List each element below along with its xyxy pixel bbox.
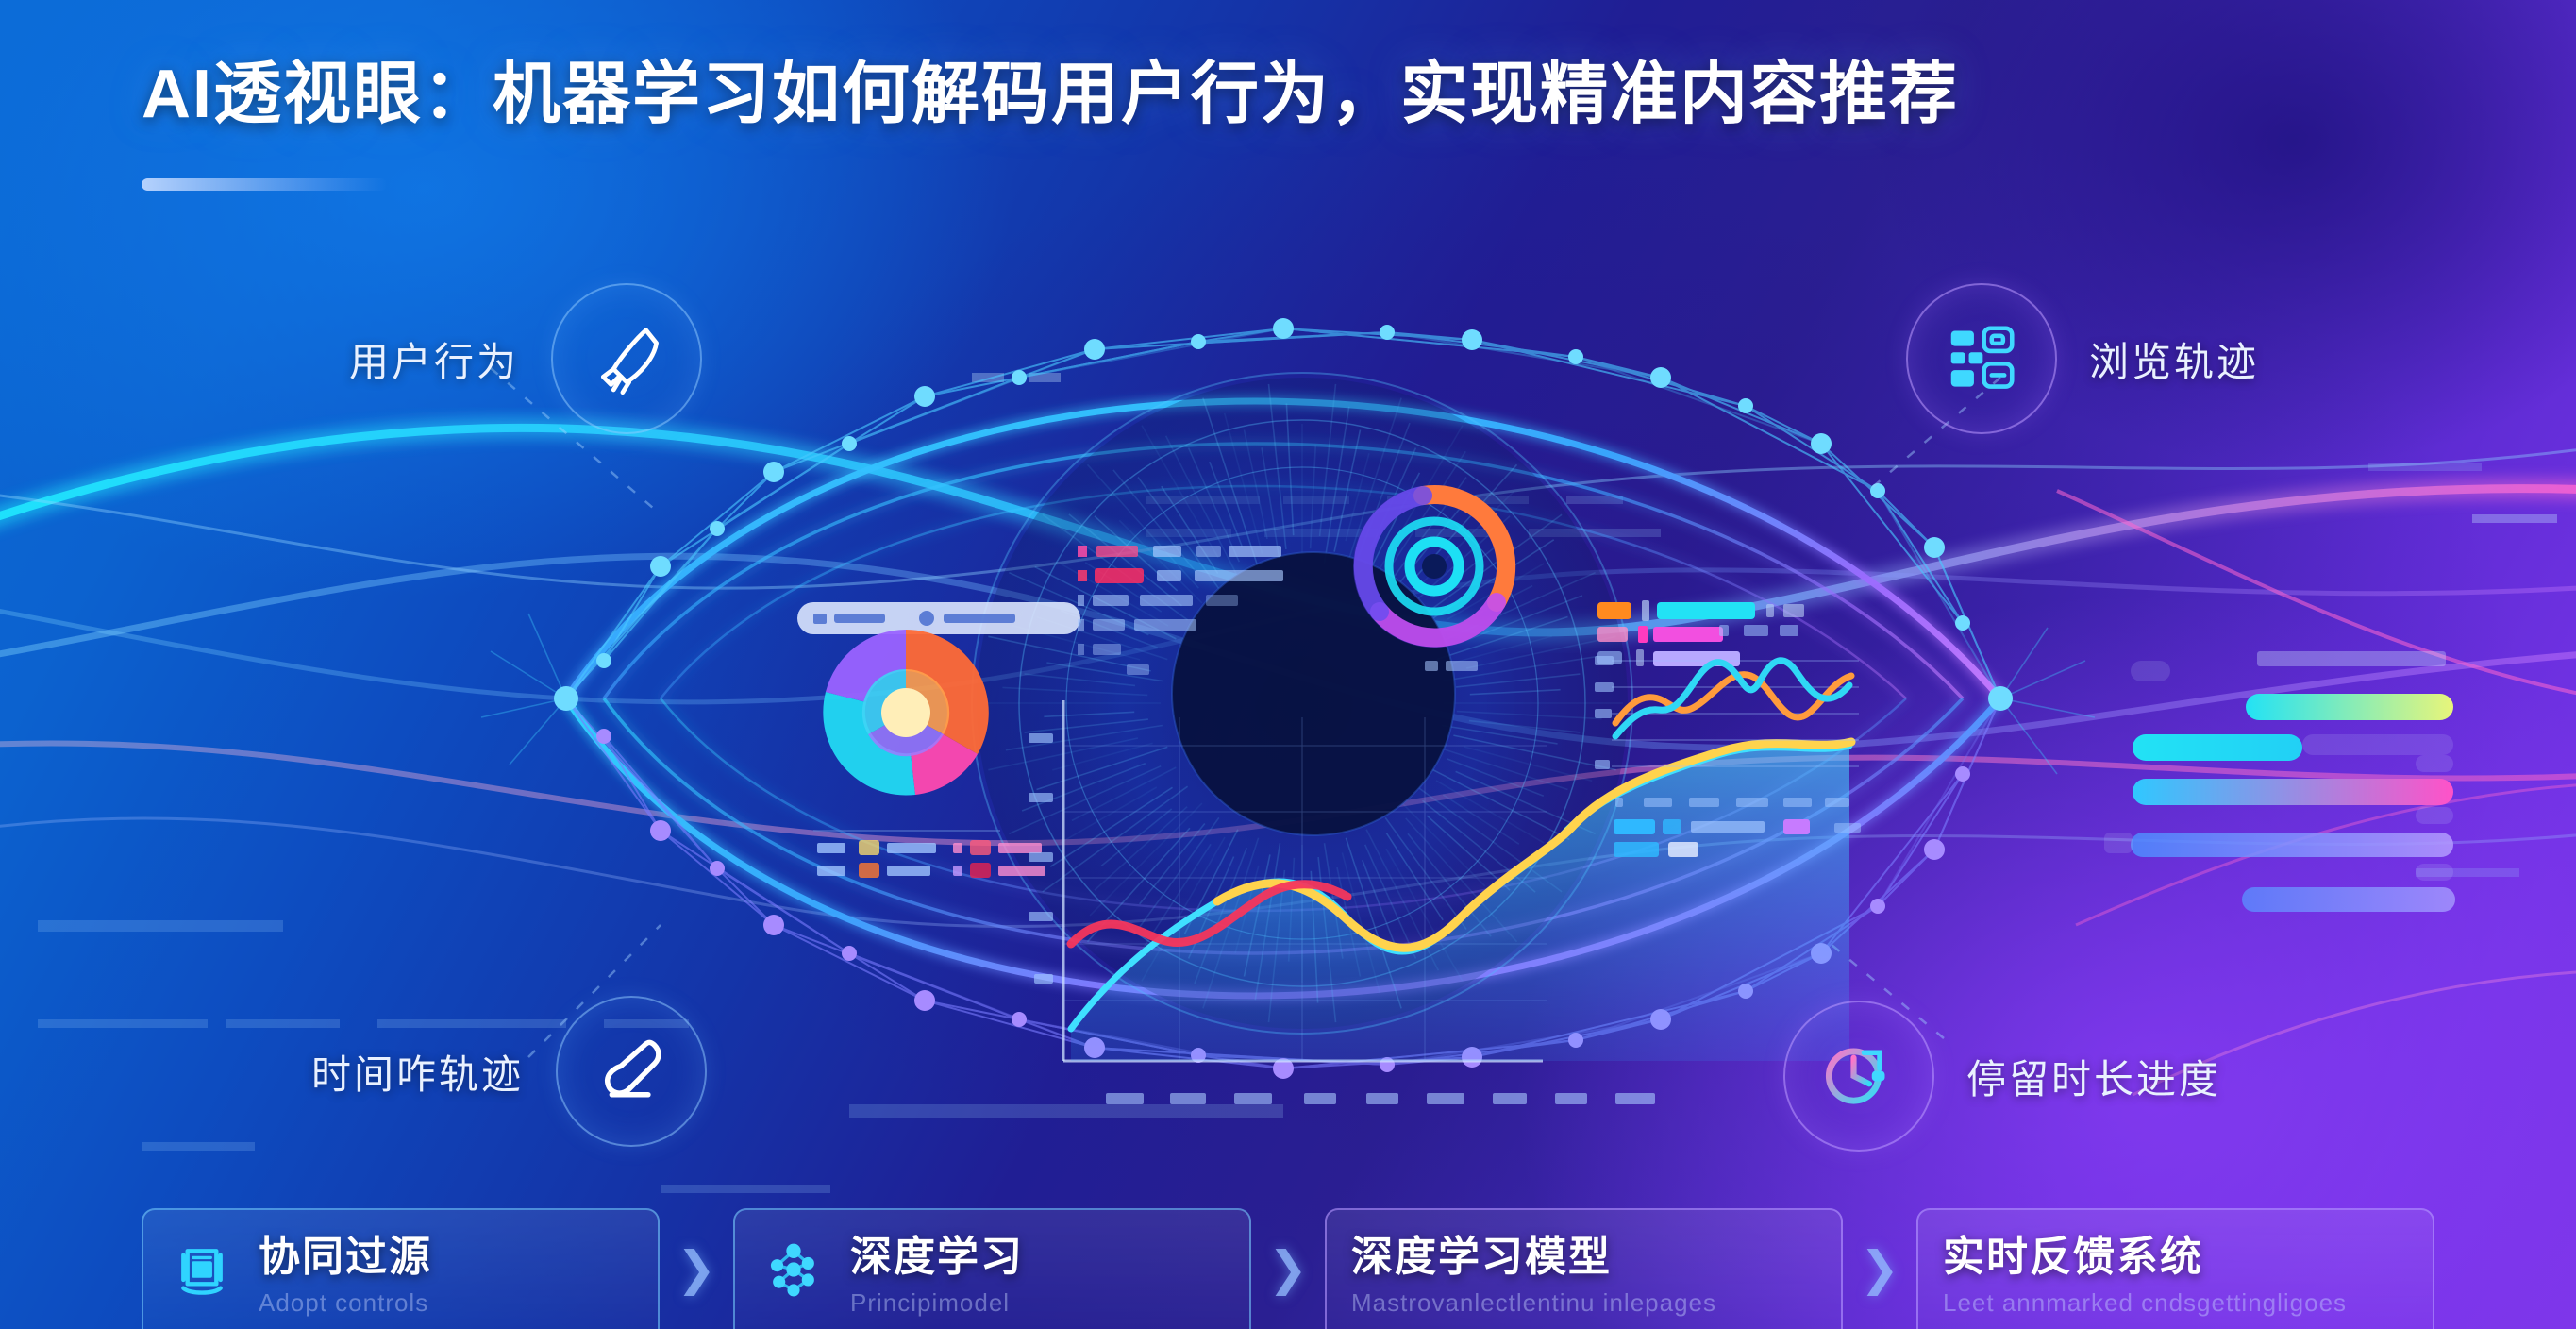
neural-network-icon: [760, 1236, 828, 1304]
feature-ring-user-behavior: [551, 283, 702, 434]
pipeline-cards: 协同过源 Adopt controls ❯: [142, 1208, 2434, 1329]
title-block: AI透视眼：机器学习如何解码用户行为，实现精准内容推荐: [142, 38, 1959, 191]
clock-gauge-icon: [1817, 1035, 1900, 1118]
layout-grid-icon: [1941, 318, 2022, 399]
feature-user-behavior[interactable]: 用户行为: [349, 283, 702, 434]
pipeline-card-subtitle: Mastrovanlectlentinu inlepages: [1351, 1288, 1716, 1318]
feature-browse-track[interactable]: 浏览轨迹: [1906, 283, 2259, 434]
feature-dwell-progress[interactable]: 停留时长进度: [1783, 1001, 2221, 1152]
pipeline-card-deep-learning[interactable]: 深度学习 Principimodel: [733, 1208, 1251, 1329]
pipeline-card-realtime-feedback[interactable]: 实时反馈系统 Leet annmarked cndsgettingligoes: [1916, 1208, 2434, 1329]
center-area-chart: [1029, 700, 1851, 1104]
center-legend-rows: [1078, 546, 1283, 675]
feature-label-dwell-progress: 停留时长进度: [1966, 1048, 2221, 1105]
feature-label-browse-track: 浏览轨迹: [2089, 330, 2259, 388]
feature-ring-time-track: [556, 996, 707, 1147]
cursor-rocket-icon: [585, 317, 668, 400]
feature-label-user-behavior: 用户行为: [349, 330, 519, 388]
pipeline-arrow-3: ❯: [1843, 1208, 1916, 1329]
pipeline-card-subtitle: Leet annmarked cndsgettingligoes: [1943, 1288, 2347, 1318]
pipeline-card-title: 实时反馈系统: [1943, 1222, 2347, 1283]
title-underline: [142, 178, 387, 191]
right-line-chart-panel: [1595, 600, 1861, 857]
pipeline-arrow-1: ❯: [660, 1208, 733, 1329]
feature-ring-dwell-progress: [1783, 1001, 1934, 1152]
feature-label-time-track: 时间咋轨迹: [311, 1043, 524, 1101]
pipeline-card-collaborative-source[interactable]: 协同过源 Adopt controls: [142, 1208, 660, 1329]
pipeline-card-title: 协同过源: [259, 1222, 432, 1283]
pipeline-card-title: 深度学习: [850, 1222, 1024, 1283]
feature-time-track[interactable]: 时间咋轨迹: [311, 996, 707, 1147]
pipeline-card-deep-learning-model[interactable]: 深度学习模型 Mastrovanlectlentinu inlepages: [1325, 1208, 1843, 1329]
page-title: AI透视眼：机器学习如何解码用户行为，实现精准内容推荐: [142, 38, 1959, 137]
pipeline-card-subtitle: Principimodel: [850, 1288, 1024, 1318]
database-screen-icon: [168, 1236, 236, 1304]
infographic-canvas: AI透视眼：机器学习如何解码用户行为，实现精准内容推荐 用户行为: [0, 0, 2576, 1329]
pipeline-arrow-2: ❯: [1251, 1208, 1325, 1329]
pipeline-card-subtitle: Adopt controls: [259, 1288, 432, 1318]
right-insight-bars: [2104, 651, 2455, 912]
center-gauge-donut: [1363, 495, 1507, 671]
left-donut-panel: [797, 602, 1080, 878]
pipeline-card-title: 深度学习模型: [1351, 1222, 1716, 1283]
click-pointer-icon: [590, 1030, 673, 1113]
feature-ring-browse-track: [1906, 283, 2057, 434]
